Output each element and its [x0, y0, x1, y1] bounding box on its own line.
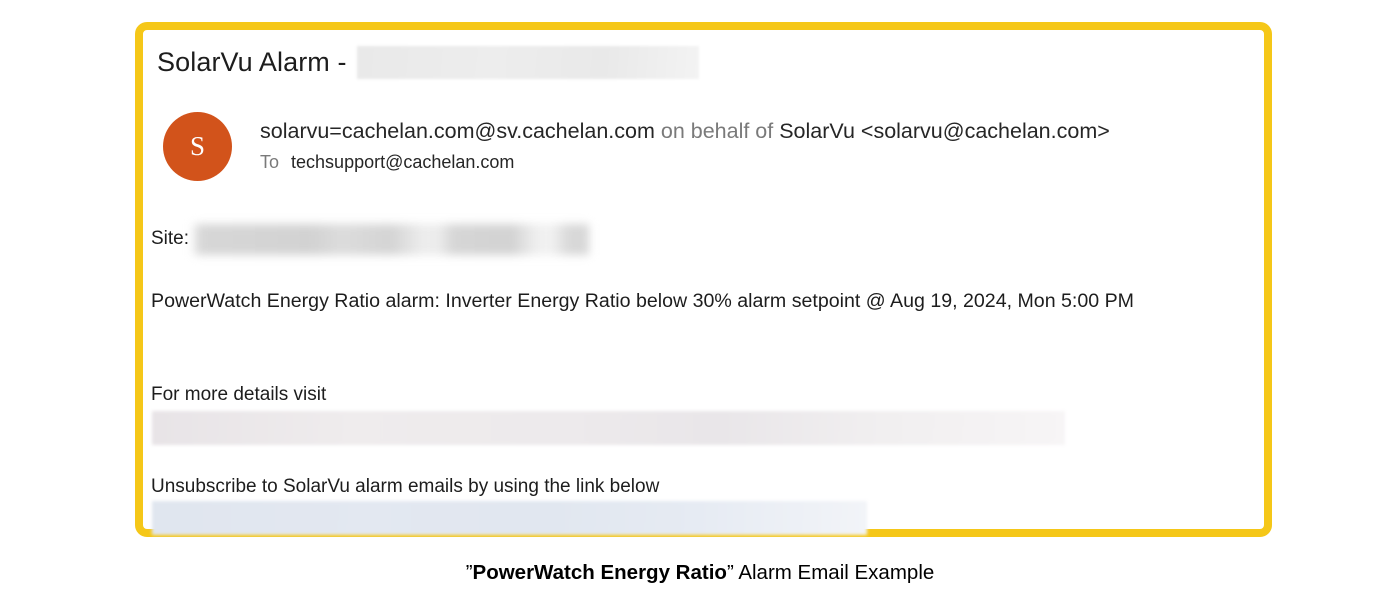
redacted-subject-band — [357, 46, 699, 79]
redacted-details-link[interactable] — [152, 411, 1065, 445]
recipient-address: techsupport@cachelan.com — [291, 152, 514, 172]
redacted-site-value — [191, 224, 589, 255]
email-card-inner: SolarVu Alarm - S solarvu=cachelan.com@s… — [143, 30, 1264, 529]
to-label: To — [260, 152, 279, 172]
caption-suffix: Alarm Email Example — [734, 561, 935, 584]
caption-bold-text: PowerWatch Energy Ratio — [473, 561, 727, 584]
sender-display-name: SolarVu <solarvu@cachelan.com> — [779, 119, 1110, 143]
site-row: Site: — [151, 222, 589, 256]
sender-line: solarvu=cachelan.com@sv.cachelan.com on … — [260, 116, 1110, 146]
figure-caption: ”PowerWatch Energy Ratio” Alarm Email Ex… — [0, 561, 1400, 585]
recipient-line: To techsupport@cachelan.com — [260, 148, 1110, 177]
avatar: S — [163, 112, 232, 181]
email-subject-text: SolarVu Alarm - — [157, 47, 347, 78]
sender-block: S solarvu=cachelan.com@sv.cachelan.com o… — [163, 110, 1110, 181]
email-subject-row: SolarVu Alarm - — [157, 43, 699, 81]
alarm-message-text: PowerWatch Energy Ratio alarm: Inverter … — [151, 288, 1134, 314]
unsubscribe-label: Unsubscribe to SolarVu alarm emails by u… — [151, 474, 659, 500]
caption-quote-close: ” — [727, 561, 734, 584]
sender-address: solarvu=cachelan.com@sv.cachelan.com — [260, 119, 655, 143]
sender-lines: solarvu=cachelan.com@sv.cachelan.com on … — [260, 110, 1110, 177]
redacted-unsubscribe-link[interactable] — [152, 501, 867, 535]
caption-quote-open: ” — [466, 561, 473, 584]
alarm-email-card: SolarVu Alarm - S solarvu=cachelan.com@s… — [135, 22, 1272, 537]
on-behalf-of-text: on behalf of — [661, 119, 773, 143]
site-label: Site: — [151, 228, 189, 250]
details-label: For more details visit — [151, 382, 326, 408]
